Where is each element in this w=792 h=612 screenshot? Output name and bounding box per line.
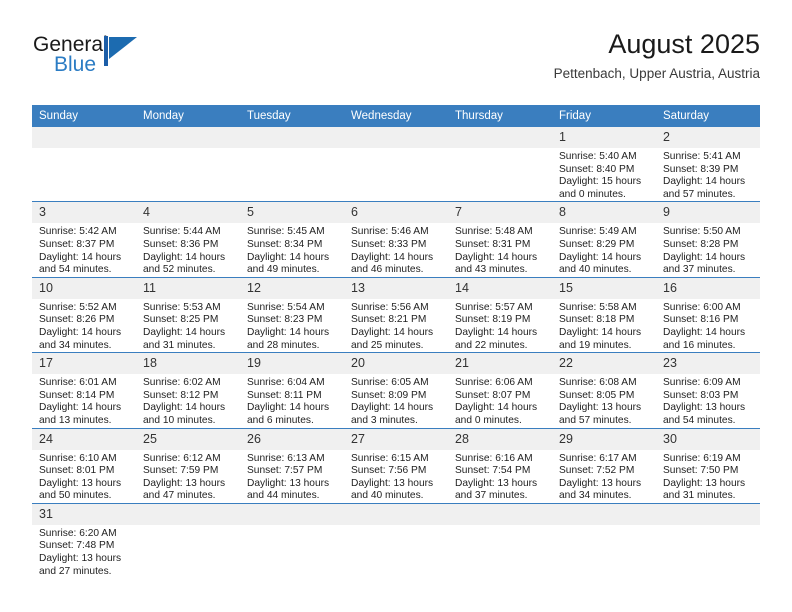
weekday-header-wednesday: Wednesday: [344, 105, 448, 127]
day-sun-info: Sunrise: 6:00 AMSunset: 8:16 PMDaylight:…: [656, 299, 760, 352]
day-number: 31: [32, 504, 136, 525]
calendar-day-cell[interactable]: 31Sunrise: 6:20 AMSunset: 7:48 PMDayligh…: [32, 503, 136, 578]
sunset-text: Sunset: 8:28 PM: [663, 239, 754, 252]
sunrise-text: Sunrise: 6:17 AM: [559, 453, 650, 466]
day-number: 17: [32, 353, 136, 374]
calendar-day-cell[interactable]: 30Sunrise: 6:19 AMSunset: 7:50 PMDayligh…: [656, 428, 760, 503]
calendar-week-row: 24Sunrise: 6:10 AMSunset: 8:01 PMDayligh…: [32, 428, 760, 503]
day-sun-info: Sunrise: 6:19 AMSunset: 7:50 PMDaylight:…: [656, 450, 760, 503]
day-number: 23: [656, 353, 760, 374]
day-number: 30: [656, 429, 760, 450]
calendar-week-row: 10Sunrise: 5:52 AMSunset: 8:26 PMDayligh…: [32, 277, 760, 352]
calendar-cell-empty: [448, 127, 552, 202]
calendar-body: 1Sunrise: 5:40 AMSunset: 8:40 PMDaylight…: [32, 127, 760, 579]
sunset-text: Sunset: 8:01 PM: [39, 465, 130, 478]
daylight-text-line1: Daylight: 15 hours: [559, 176, 650, 189]
day-number: 5: [240, 202, 344, 223]
daylight-text-line2: and 40 minutes.: [559, 264, 650, 277]
day-sun-info: Sunrise: 5:42 AMSunset: 8:37 PMDaylight:…: [32, 223, 136, 276]
calendar-cell-empty: [240, 127, 344, 202]
day-number: 4: [136, 202, 240, 223]
day-sun-info: Sunrise: 5:54 AMSunset: 8:23 PMDaylight:…: [240, 299, 344, 352]
daylight-text-line2: and 46 minutes.: [351, 264, 442, 277]
day-sun-info: Sunrise: 5:45 AMSunset: 8:34 PMDaylight:…: [240, 223, 344, 276]
sunset-text: Sunset: 8:29 PM: [559, 239, 650, 252]
calendar-page: General Blue August 2025 Pettenbach, Upp…: [0, 0, 792, 612]
day-number: 27: [344, 429, 448, 450]
sunrise-text: Sunrise: 6:01 AM: [39, 377, 130, 390]
general-blue-logo[interactable]: General Blue: [32, 32, 192, 92]
daylight-text-line2: and 22 minutes.: [455, 340, 546, 353]
calendar-cell-empty: [240, 503, 344, 578]
daylight-text-line1: Daylight: 14 hours: [663, 176, 754, 189]
daylight-text-line1: Daylight: 13 hours: [455, 478, 546, 491]
calendar-day-cell[interactable]: 1Sunrise: 5:40 AMSunset: 8:40 PMDaylight…: [552, 127, 656, 202]
sunrise-text: Sunrise: 6:02 AM: [143, 377, 234, 390]
weekday-header-friday: Friday: [552, 105, 656, 127]
sunrise-text: Sunrise: 6:09 AM: [663, 377, 754, 390]
logo-bar-shape: [104, 36, 108, 66]
daylight-text-line2: and 34 minutes.: [39, 340, 130, 353]
sunset-text: Sunset: 8:18 PM: [559, 314, 650, 327]
daylight-text-line1: Daylight: 14 hours: [39, 252, 130, 265]
sunset-text: Sunset: 8:09 PM: [351, 390, 442, 403]
calendar-day-cell[interactable]: 17Sunrise: 6:01 AMSunset: 8:14 PMDayligh…: [32, 353, 136, 428]
daylight-text-line2: and 37 minutes.: [663, 264, 754, 277]
sunrise-text: Sunrise: 5:57 AM: [455, 302, 546, 315]
day-number: 11: [136, 278, 240, 299]
daylight-text-line1: Daylight: 14 hours: [143, 402, 234, 415]
daylight-text-line1: Daylight: 13 hours: [663, 478, 754, 491]
sunrise-text: Sunrise: 5:56 AM: [351, 302, 442, 315]
day-sun-info: Sunrise: 6:06 AMSunset: 8:07 PMDaylight:…: [448, 374, 552, 427]
calendar-cell-empty: [344, 503, 448, 578]
daylight-text-line2: and 31 minutes.: [663, 490, 754, 503]
sunset-text: Sunset: 8:31 PM: [455, 239, 546, 252]
sunrise-text: Sunrise: 5:48 AM: [455, 226, 546, 239]
weekday-header-saturday: Saturday: [656, 105, 760, 127]
day-sun-info: Sunrise: 6:02 AMSunset: 8:12 PMDaylight:…: [136, 374, 240, 427]
day-sun-info: Sunrise: 5:41 AMSunset: 8:39 PMDaylight:…: [656, 148, 760, 201]
day-number: [240, 504, 344, 525]
day-number: 26: [240, 429, 344, 450]
calendar-day-cell[interactable]: 3Sunrise: 5:42 AMSunset: 8:37 PMDaylight…: [32, 202, 136, 277]
day-sun-info: Sunrise: 6:08 AMSunset: 8:05 PMDaylight:…: [552, 374, 656, 427]
day-number: 15: [552, 278, 656, 299]
day-sun-info: Sunrise: 5:57 AMSunset: 8:19 PMDaylight:…: [448, 299, 552, 352]
day-number: 29: [552, 429, 656, 450]
sunrise-text: Sunrise: 5:52 AM: [39, 302, 130, 315]
calendar-day-cell[interactable]: 27Sunrise: 6:15 AMSunset: 7:56 PMDayligh…: [344, 428, 448, 503]
calendar-day-cell[interactable]: 22Sunrise: 6:08 AMSunset: 8:05 PMDayligh…: [552, 353, 656, 428]
day-number: 24: [32, 429, 136, 450]
page-title: August 2025: [554, 28, 760, 61]
sunrise-text: Sunrise: 6:20 AM: [39, 528, 130, 541]
sunrise-text: Sunrise: 6:08 AM: [559, 377, 650, 390]
daylight-text-line1: Daylight: 14 hours: [351, 327, 442, 340]
sunset-text: Sunset: 8:03 PM: [663, 390, 754, 403]
calendar-header-row: Sunday Monday Tuesday Wednesday Thursday…: [32, 105, 760, 127]
day-sun-info: Sunrise: 6:17 AMSunset: 7:52 PMDaylight:…: [552, 450, 656, 503]
calendar-day-cell[interactable]: 9Sunrise: 5:50 AMSunset: 8:28 PMDaylight…: [656, 202, 760, 277]
daylight-text-line2: and 3 minutes.: [351, 415, 442, 428]
daylight-text-line2: and 54 minutes.: [663, 415, 754, 428]
day-sun-info: Sunrise: 5:50 AMSunset: 8:28 PMDaylight:…: [656, 223, 760, 276]
day-sun-info: Sunrise: 5:53 AMSunset: 8:25 PMDaylight:…: [136, 299, 240, 352]
sunrise-text: Sunrise: 5:42 AM: [39, 226, 130, 239]
calendar-day-cell[interactable]: 12Sunrise: 5:54 AMSunset: 8:23 PMDayligh…: [240, 277, 344, 352]
day-sun-info: Sunrise: 5:40 AMSunset: 8:40 PMDaylight:…: [552, 148, 656, 201]
daylight-text-line1: Daylight: 14 hours: [247, 402, 338, 415]
calendar-day-cell[interactable]: 16Sunrise: 6:00 AMSunset: 8:16 PMDayligh…: [656, 277, 760, 352]
day-sun-info: Sunrise: 6:05 AMSunset: 8:09 PMDaylight:…: [344, 374, 448, 427]
sunset-text: Sunset: 8:12 PM: [143, 390, 234, 403]
day-number: [552, 504, 656, 525]
calendar-week-row: 31Sunrise: 6:20 AMSunset: 7:48 PMDayligh…: [32, 503, 760, 578]
calendar-day-cell[interactable]: 24Sunrise: 6:10 AMSunset: 8:01 PMDayligh…: [32, 428, 136, 503]
calendar-day-cell[interactable]: 14Sunrise: 5:57 AMSunset: 8:19 PMDayligh…: [448, 277, 552, 352]
daylight-text-line1: Daylight: 14 hours: [351, 402, 442, 415]
calendar-day-cell[interactable]: 2Sunrise: 5:41 AMSunset: 8:39 PMDaylight…: [656, 127, 760, 202]
daylight-text-line2: and 50 minutes.: [39, 490, 130, 503]
calendar-week-row: 17Sunrise: 6:01 AMSunset: 8:14 PMDayligh…: [32, 353, 760, 428]
day-number: [136, 127, 240, 148]
calendar-day-cell[interactable]: 13Sunrise: 5:56 AMSunset: 8:21 PMDayligh…: [344, 277, 448, 352]
daylight-text-line2: and 47 minutes.: [143, 490, 234, 503]
day-number: 28: [448, 429, 552, 450]
calendar-cell-empty: [448, 503, 552, 578]
page-subtitle: Pettenbach, Upper Austria, Austria: [554, 65, 760, 83]
calendar-day-cell[interactable]: 28Sunrise: 6:16 AMSunset: 7:54 PMDayligh…: [448, 428, 552, 503]
day-number: [448, 127, 552, 148]
daylight-text-line1: Daylight: 14 hours: [663, 252, 754, 265]
daylight-text-line1: Daylight: 14 hours: [455, 402, 546, 415]
sunset-text: Sunset: 7:52 PM: [559, 465, 650, 478]
day-number: 13: [344, 278, 448, 299]
daylight-text-line2: and 37 minutes.: [455, 490, 546, 503]
daylight-text-line1: Daylight: 14 hours: [663, 327, 754, 340]
sunset-text: Sunset: 8:21 PM: [351, 314, 442, 327]
calendar-cell-empty: [344, 127, 448, 202]
calendar-day-cell[interactable]: 11Sunrise: 5:53 AMSunset: 8:25 PMDayligh…: [136, 277, 240, 352]
sunrise-text: Sunrise: 6:15 AM: [351, 453, 442, 466]
sunrise-text: Sunrise: 6:12 AM: [143, 453, 234, 466]
sunset-text: Sunset: 7:50 PM: [663, 465, 754, 478]
day-sun-info: Sunrise: 6:15 AMSunset: 7:56 PMDaylight:…: [344, 450, 448, 503]
daylight-text-line2: and 44 minutes.: [247, 490, 338, 503]
daylight-text-line2: and 40 minutes.: [351, 490, 442, 503]
sunset-text: Sunset: 7:57 PM: [247, 465, 338, 478]
day-number: 1: [552, 127, 656, 148]
daylight-text-line1: Daylight: 13 hours: [663, 402, 754, 415]
weekday-header-monday: Monday: [136, 105, 240, 127]
day-sun-info: Sunrise: 5:48 AMSunset: 8:31 PMDaylight:…: [448, 223, 552, 276]
sunset-text: Sunset: 8:25 PM: [143, 314, 234, 327]
day-number: [344, 127, 448, 148]
daylight-text-line2: and 0 minutes.: [455, 415, 546, 428]
day-sun-info: Sunrise: 6:16 AMSunset: 7:54 PMDaylight:…: [448, 450, 552, 503]
day-number: 2: [656, 127, 760, 148]
daylight-text-line2: and 43 minutes.: [455, 264, 546, 277]
logo-text-blue: Blue: [54, 52, 96, 77]
sunrise-text: Sunrise: 5:58 AM: [559, 302, 650, 315]
daylight-text-line2: and 34 minutes.: [559, 490, 650, 503]
sunrise-text: Sunrise: 6:06 AM: [455, 377, 546, 390]
day-number: [136, 504, 240, 525]
sunset-text: Sunset: 8:40 PM: [559, 164, 650, 177]
daylight-text-line1: Daylight: 13 hours: [39, 553, 130, 566]
day-number: 14: [448, 278, 552, 299]
daylight-text-line2: and 57 minutes.: [559, 415, 650, 428]
calendar-day-cell[interactable]: 23Sunrise: 6:09 AMSunset: 8:03 PMDayligh…: [656, 353, 760, 428]
day-sun-info: Sunrise: 5:49 AMSunset: 8:29 PMDaylight:…: [552, 223, 656, 276]
sunset-text: Sunset: 8:05 PM: [559, 390, 650, 403]
day-sun-info: Sunrise: 5:52 AMSunset: 8:26 PMDaylight:…: [32, 299, 136, 352]
daylight-text-line1: Daylight: 14 hours: [247, 252, 338, 265]
sunset-text: Sunset: 8:39 PM: [663, 164, 754, 177]
daylight-text-line2: and 27 minutes.: [39, 566, 130, 579]
daylight-text-line1: Daylight: 14 hours: [559, 327, 650, 340]
daylight-text-line1: Daylight: 14 hours: [455, 327, 546, 340]
calendar-day-cell[interactable]: 25Sunrise: 6:12 AMSunset: 7:59 PMDayligh…: [136, 428, 240, 503]
calendar-day-cell[interactable]: 15Sunrise: 5:58 AMSunset: 8:18 PMDayligh…: [552, 277, 656, 352]
day-number: 20: [344, 353, 448, 374]
day-number: 21: [448, 353, 552, 374]
sunset-text: Sunset: 8:23 PM: [247, 314, 338, 327]
daylight-text-line1: Daylight: 13 hours: [559, 402, 650, 415]
calendar-cell-empty: [136, 503, 240, 578]
sunset-text: Sunset: 8:07 PM: [455, 390, 546, 403]
sunrise-text: Sunrise: 5:49 AM: [559, 226, 650, 239]
calendar-day-cell[interactable]: 10Sunrise: 5:52 AMSunset: 8:26 PMDayligh…: [32, 277, 136, 352]
day-number: 10: [32, 278, 136, 299]
daylight-text-line1: Daylight: 13 hours: [559, 478, 650, 491]
day-number: [32, 127, 136, 148]
sunset-text: Sunset: 7:48 PM: [39, 540, 130, 553]
weekday-header-tuesday: Tuesday: [240, 105, 344, 127]
day-number: 12: [240, 278, 344, 299]
sunrise-text: Sunrise: 5:50 AM: [663, 226, 754, 239]
page-header: General Blue August 2025 Pettenbach, Upp…: [32, 28, 760, 100]
daylight-text-line2: and 16 minutes.: [663, 340, 754, 353]
sunrise-text: Sunrise: 5:54 AM: [247, 302, 338, 315]
calendar-cell-empty: [656, 503, 760, 578]
daylight-text-line2: and 19 minutes.: [559, 340, 650, 353]
daylight-text-line1: Daylight: 13 hours: [39, 478, 130, 491]
sunset-text: Sunset: 7:54 PM: [455, 465, 546, 478]
sunrise-text: Sunrise: 5:53 AM: [143, 302, 234, 315]
sunset-text: Sunset: 7:56 PM: [351, 465, 442, 478]
calendar-day-cell[interactable]: 21Sunrise: 6:06 AMSunset: 8:07 PMDayligh…: [448, 353, 552, 428]
sunset-text: Sunset: 8:16 PM: [663, 314, 754, 327]
daylight-text-line2: and 57 minutes.: [663, 189, 754, 202]
daylight-text-line1: Daylight: 14 hours: [39, 402, 130, 415]
calendar-day-cell[interactable]: 19Sunrise: 6:04 AMSunset: 8:11 PMDayligh…: [240, 353, 344, 428]
sunrise-text: Sunrise: 5:44 AM: [143, 226, 234, 239]
sunrise-text: Sunrise: 5:40 AM: [559, 151, 650, 164]
sunset-text: Sunset: 7:59 PM: [143, 465, 234, 478]
day-number: 6: [344, 202, 448, 223]
calendar-cell-empty: [32, 127, 136, 202]
sunrise-text: Sunrise: 6:19 AM: [663, 453, 754, 466]
calendar-day-cell[interactable]: 20Sunrise: 6:05 AMSunset: 8:09 PMDayligh…: [344, 353, 448, 428]
daylight-text-line1: Daylight: 13 hours: [143, 478, 234, 491]
sunset-text: Sunset: 8:34 PM: [247, 239, 338, 252]
calendar-day-cell[interactable]: 5Sunrise: 5:45 AMSunset: 8:34 PMDaylight…: [240, 202, 344, 277]
sunset-text: Sunset: 8:36 PM: [143, 239, 234, 252]
sunrise-text: Sunrise: 5:46 AM: [351, 226, 442, 239]
day-sun-info: Sunrise: 5:46 AMSunset: 8:33 PMDaylight:…: [344, 223, 448, 276]
daylight-text-line1: Daylight: 14 hours: [143, 252, 234, 265]
day-number: 3: [32, 202, 136, 223]
day-number: 8: [552, 202, 656, 223]
day-number: 25: [136, 429, 240, 450]
day-number: 18: [136, 353, 240, 374]
calendar-day-cell[interactable]: 7Sunrise: 5:48 AMSunset: 8:31 PMDaylight…: [448, 202, 552, 277]
sunrise-text: Sunrise: 6:10 AM: [39, 453, 130, 466]
sunrise-text: Sunrise: 6:00 AM: [663, 302, 754, 315]
daylight-text-line1: Daylight: 14 hours: [143, 327, 234, 340]
day-sun-info: Sunrise: 5:58 AMSunset: 8:18 PMDaylight:…: [552, 299, 656, 352]
calendar-cell-empty: [136, 127, 240, 202]
daylight-text-line2: and 25 minutes.: [351, 340, 442, 353]
sunset-text: Sunset: 8:19 PM: [455, 314, 546, 327]
day-sun-info: Sunrise: 6:01 AMSunset: 8:14 PMDaylight:…: [32, 374, 136, 427]
day-sun-info: Sunrise: 6:20 AMSunset: 7:48 PMDaylight:…: [32, 525, 136, 578]
daylight-text-line1: Daylight: 14 hours: [351, 252, 442, 265]
daylight-text-line2: and 13 minutes.: [39, 415, 130, 428]
daylight-text-line2: and 49 minutes.: [247, 264, 338, 277]
sunset-text: Sunset: 8:14 PM: [39, 390, 130, 403]
sunset-text: Sunset: 8:37 PM: [39, 239, 130, 252]
daylight-text-line2: and 6 minutes.: [247, 415, 338, 428]
daylight-text-line1: Daylight: 14 hours: [39, 327, 130, 340]
calendar-day-cell[interactable]: 4Sunrise: 5:44 AMSunset: 8:36 PMDaylight…: [136, 202, 240, 277]
flag-triangle-icon: [104, 36, 137, 66]
day-sun-info: Sunrise: 6:13 AMSunset: 7:57 PMDaylight:…: [240, 450, 344, 503]
sunset-text: Sunset: 8:11 PM: [247, 390, 338, 403]
daylight-text-line2: and 52 minutes.: [143, 264, 234, 277]
day-sun-info: Sunrise: 6:04 AMSunset: 8:11 PMDaylight:…: [240, 374, 344, 427]
sunrise-text: Sunrise: 6:16 AM: [455, 453, 546, 466]
logo-triangle-shape: [109, 37, 137, 59]
calendar-day-cell[interactable]: 6Sunrise: 5:46 AMSunset: 8:33 PMDaylight…: [344, 202, 448, 277]
day-number: [448, 504, 552, 525]
daylight-text-line2: and 54 minutes.: [39, 264, 130, 277]
calendar-day-cell[interactable]: 18Sunrise: 6:02 AMSunset: 8:12 PMDayligh…: [136, 353, 240, 428]
daylight-text-line1: Daylight: 14 hours: [455, 252, 546, 265]
day-number: 7: [448, 202, 552, 223]
day-number: 19: [240, 353, 344, 374]
calendar-week-row: 3Sunrise: 5:42 AMSunset: 8:37 PMDaylight…: [32, 202, 760, 277]
title-block: August 2025 Pettenbach, Upper Austria, A…: [554, 28, 760, 83]
daylight-text-line2: and 10 minutes.: [143, 415, 234, 428]
sunset-text: Sunset: 8:33 PM: [351, 239, 442, 252]
daylight-text-line1: Daylight: 13 hours: [247, 478, 338, 491]
day-sun-info: Sunrise: 6:09 AMSunset: 8:03 PMDaylight:…: [656, 374, 760, 427]
daylight-text-line2: and 0 minutes.: [559, 189, 650, 202]
weekday-header-thursday: Thursday: [448, 105, 552, 127]
calendar-cell-empty: [552, 503, 656, 578]
daylight-text-line1: Daylight: 14 hours: [559, 252, 650, 265]
day-number: 9: [656, 202, 760, 223]
day-number: 16: [656, 278, 760, 299]
day-sun-info: Sunrise: 6:12 AMSunset: 7:59 PMDaylight:…: [136, 450, 240, 503]
sunrise-text: Sunrise: 6:04 AM: [247, 377, 338, 390]
calendar-day-cell[interactable]: 29Sunrise: 6:17 AMSunset: 7:52 PMDayligh…: [552, 428, 656, 503]
daylight-text-line2: and 28 minutes.: [247, 340, 338, 353]
day-sun-info: Sunrise: 6:10 AMSunset: 8:01 PMDaylight:…: [32, 450, 136, 503]
day-number: [240, 127, 344, 148]
day-sun-info: Sunrise: 5:44 AMSunset: 8:36 PMDaylight:…: [136, 223, 240, 276]
day-number: [344, 504, 448, 525]
calendar-table: Sunday Monday Tuesday Wednesday Thursday…: [32, 105, 760, 578]
sunset-text: Sunset: 8:26 PM: [39, 314, 130, 327]
daylight-text-line2: and 31 minutes.: [143, 340, 234, 353]
weekday-header-sunday: Sunday: [32, 105, 136, 127]
day-sun-info: Sunrise: 5:56 AMSunset: 8:21 PMDaylight:…: [344, 299, 448, 352]
day-number: 22: [552, 353, 656, 374]
daylight-text-line1: Daylight: 13 hours: [351, 478, 442, 491]
calendar-day-cell[interactable]: 26Sunrise: 6:13 AMSunset: 7:57 PMDayligh…: [240, 428, 344, 503]
sunrise-text: Sunrise: 5:41 AM: [663, 151, 754, 164]
sunrise-text: Sunrise: 6:13 AM: [247, 453, 338, 466]
calendar-day-cell[interactable]: 8Sunrise: 5:49 AMSunset: 8:29 PMDaylight…: [552, 202, 656, 277]
calendar-week-row: 1Sunrise: 5:40 AMSunset: 8:40 PMDaylight…: [32, 127, 760, 202]
day-number: [656, 504, 760, 525]
daylight-text-line1: Daylight: 14 hours: [247, 327, 338, 340]
sunrise-text: Sunrise: 6:05 AM: [351, 377, 442, 390]
sunrise-text: Sunrise: 5:45 AM: [247, 226, 338, 239]
